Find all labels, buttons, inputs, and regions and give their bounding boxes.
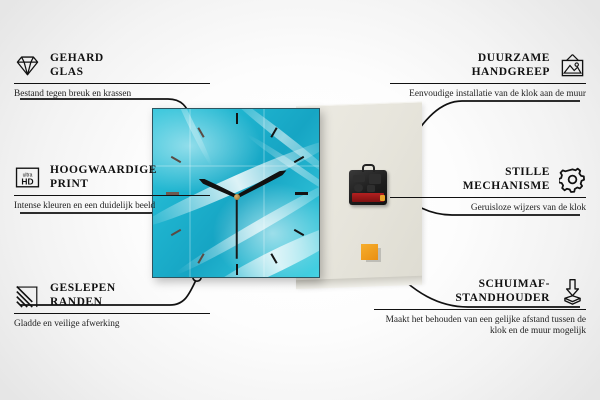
feature-schuimafstandhouder: SCHUIMAF- STANDHOUDER Maakt het behouden…: [374, 278, 586, 337]
picture-hanger-icon: [559, 52, 586, 79]
feature-description: Eenvoudige installatie van de klok aan d…: [390, 89, 586, 100]
foam-spacer-pad: [361, 244, 378, 260]
feature-description: Intense kleuren en een duidelijk beeld: [14, 201, 210, 212]
ultra-hd-icon: ultra HD: [14, 164, 41, 191]
feature-title: STILLE MECHANISME: [463, 166, 550, 193]
gear-icon: [559, 166, 586, 193]
feature-title: HOOGWAARDIGE PRINT: [50, 164, 157, 191]
hanger-tab-icon: [362, 164, 375, 172]
divider: [14, 195, 210, 196]
divider: [14, 313, 210, 314]
divider: [374, 309, 586, 310]
beveled-edges-icon: [14, 282, 41, 309]
feature-title: DUURZAME HANDGREEP: [472, 52, 550, 79]
feature-hoogwaardige-print: ultra HD HOOGWAARDIGE PRINT Intense kleu…: [14, 164, 210, 212]
feature-title: GEHARD GLAS: [50, 52, 104, 79]
feature-description: Gladde en veilige afwerking: [14, 319, 210, 330]
feature-description: Maakt het behouden van een gelijke afsta…: [374, 315, 586, 338]
feature-title: SCHUIMAF- STANDHOUDER: [455, 278, 550, 305]
battery: [352, 193, 384, 202]
feature-geslepen-randen: GESLEPEN RANDEN Gladde en veilige afwerk…: [14, 282, 210, 330]
clock-center-pivot: [234, 194, 240, 200]
svg-text:HD: HD: [21, 176, 33, 186]
infographic-canvas: GEHARD GLAS Bestand tegen breuk en krass…: [0, 0, 600, 400]
clock-second-hand: [236, 197, 238, 259]
diamond-icon: [14, 52, 41, 79]
feature-description: Bestand tegen breuk en krassen: [14, 89, 210, 100]
feature-stille-mechanisme: STILLE MECHANISME Geruisloze wijzers van…: [390, 166, 586, 214]
feature-gehard-glas: GEHARD GLAS Bestand tegen breuk en krass…: [14, 52, 210, 100]
divider: [14, 83, 210, 84]
feature-duurzame-handgreep: DUURZAME HANDGREEP Eenvoudige installati…: [390, 52, 586, 100]
feature-title: GESLEPEN RANDEN: [50, 282, 116, 309]
divider: [390, 83, 586, 84]
divider: [390, 197, 586, 198]
clock-movement: [349, 170, 387, 205]
foam-spacer-icon: [559, 278, 586, 305]
feature-description: Geruisloze wijzers van de klok: [390, 203, 586, 214]
connector-duurzame-handgreep: [408, 101, 580, 145]
